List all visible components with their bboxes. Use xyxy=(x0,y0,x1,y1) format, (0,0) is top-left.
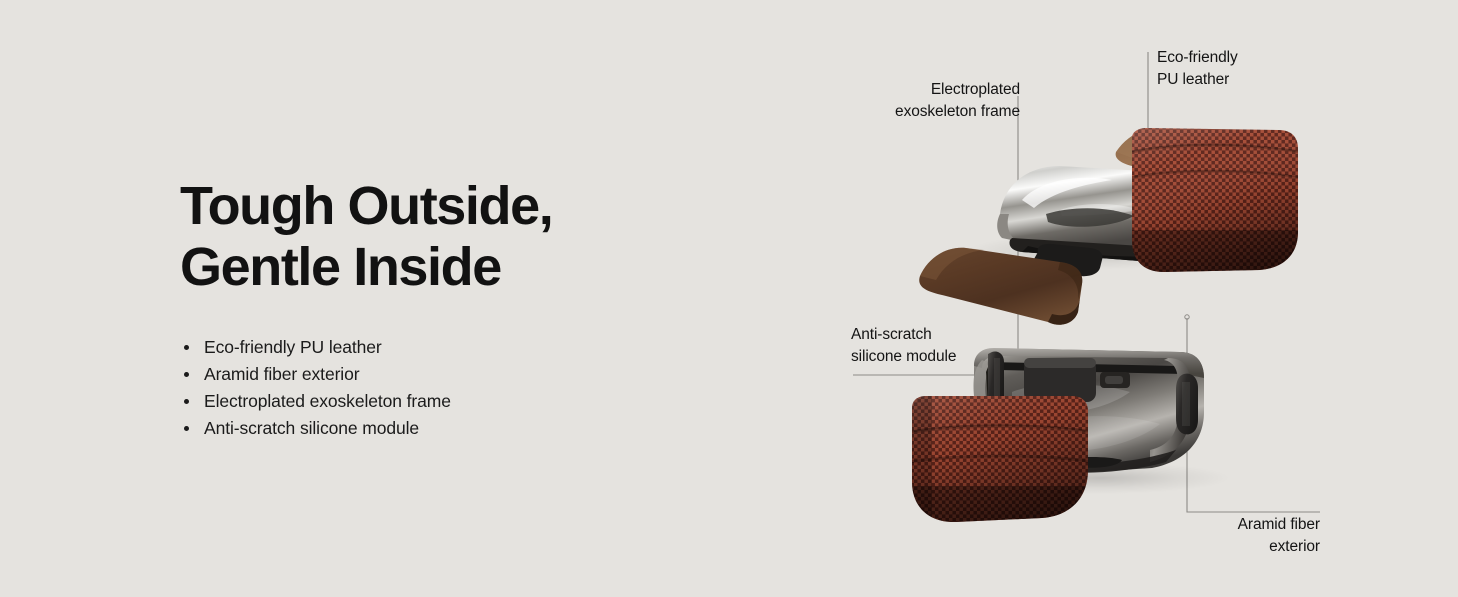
callout-label-aramid-fiber-exterior: Aramid fiber exterior xyxy=(1160,514,1320,558)
page-title: Tough Outside, Gentle Inside xyxy=(180,176,740,298)
list-item: Aramid fiber exterior xyxy=(180,361,740,388)
part-aramid-left-panel xyxy=(900,388,1110,540)
feature-list: Eco-friendly PU leather Aramid fiber ext… xyxy=(180,334,740,442)
list-item: Electroplated exoskeleton frame xyxy=(180,388,740,415)
list-item: Anti-scratch silicone module xyxy=(180,415,740,442)
list-item: Eco-friendly PU leather xyxy=(180,334,740,361)
callout-label-eco-friendly-pu-leather: Eco-friendly PU leather xyxy=(1157,47,1317,91)
callout-label-anti-scratch-silicone-module: Anti-scratch silicone module xyxy=(851,324,1001,368)
copy-block: Tough Outside, Gentle Inside Eco-friendl… xyxy=(180,176,740,442)
part-aramid-right-panel xyxy=(1120,120,1320,290)
product-feature-banner: Tough Outside, Gentle Inside Eco-friendl… xyxy=(0,0,1458,597)
part-silicone-pad-right xyxy=(1176,374,1198,435)
callout-label-electroplated-exoskeleton-frame: Electroplated exoskeleton frame xyxy=(862,79,1020,123)
